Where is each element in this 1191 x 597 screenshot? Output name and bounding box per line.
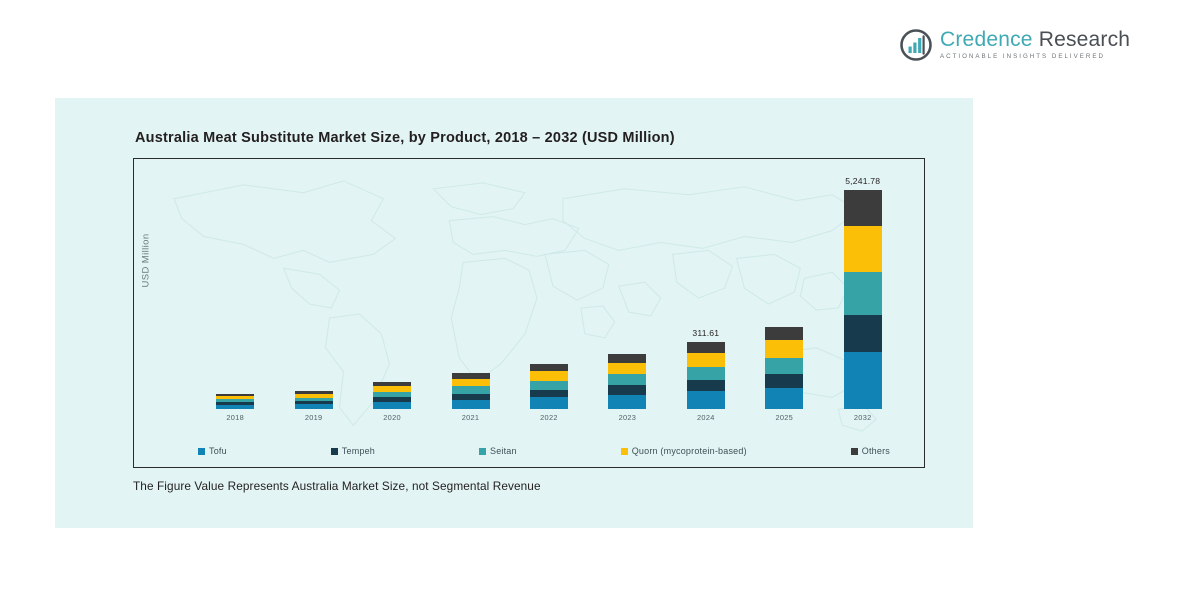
bar-segment-seitan[interactable] xyxy=(452,386,490,393)
legend-swatch-icon xyxy=(479,448,486,455)
bar-segment-seitan[interactable] xyxy=(530,381,568,390)
bar-column[interactable] xyxy=(196,177,274,409)
x-tick-2023: 2023 xyxy=(588,413,666,427)
legend-item-seitan[interactable]: Seitan xyxy=(479,446,517,456)
stacked-bar[interactable] xyxy=(687,342,725,409)
stacked-bar[interactable] xyxy=(765,327,803,409)
stacked-bar[interactable] xyxy=(373,382,411,409)
legend-label: Others xyxy=(862,446,890,456)
stacked-bar[interactable] xyxy=(452,373,490,409)
bar-segment-tofu[interactable] xyxy=(216,405,254,409)
legend-swatch-icon xyxy=(331,448,338,455)
x-tick-2019: 2019 xyxy=(274,413,352,427)
bar-segment-seitan[interactable] xyxy=(687,367,725,380)
bar-chart-circle-icon xyxy=(899,28,933,62)
bar-segment-tofu[interactable] xyxy=(765,388,803,409)
plot-frame: USD Million 311.615,241.78 2018201920202… xyxy=(133,158,925,468)
brand-tagline: Actionable Insights Delivered xyxy=(940,54,1130,60)
bar-segment-tempeh[interactable] xyxy=(530,390,568,397)
legend-label: Tempeh xyxy=(342,446,375,456)
bar-segment-tofu[interactable] xyxy=(687,391,725,409)
bar-column[interactable] xyxy=(274,177,352,409)
bar-segment-quorn[interactable] xyxy=(687,353,725,367)
bar-column[interactable]: 311.61 xyxy=(667,177,745,409)
bar-segment-quorn[interactable] xyxy=(608,363,646,375)
chart-legend: TofuTempehSeitanQuorn (mycoprotein-based… xyxy=(186,443,902,459)
bar-segment-tofu[interactable] xyxy=(452,400,490,409)
bar-segment-tempeh[interactable] xyxy=(765,374,803,388)
bar-column[interactable] xyxy=(431,177,509,409)
legend-item-quorn[interactable]: Quorn (mycoprotein-based) xyxy=(621,446,747,456)
bar-segment-tempeh[interactable] xyxy=(844,315,882,351)
legend-label: Quorn (mycoprotein-based) xyxy=(632,446,747,456)
figure-footnote: The Figure Value Represents Australia Ma… xyxy=(133,479,541,493)
x-tick-2022: 2022 xyxy=(510,413,588,427)
bar-value-label: 311.61 xyxy=(692,328,719,338)
bar-segment-others[interactable] xyxy=(765,327,803,340)
legend-swatch-icon xyxy=(198,448,205,455)
bar-segment-tofu[interactable] xyxy=(844,352,882,409)
bar-segment-quorn[interactable] xyxy=(530,371,568,380)
legend-swatch-icon xyxy=(851,448,858,455)
bar-segment-others[interactable] xyxy=(844,190,882,226)
brand-name-secondary: Research xyxy=(1039,28,1130,51)
chart-title: Australia Meat Substitute Market Size, b… xyxy=(135,130,925,146)
legend-item-tofu[interactable]: Tofu xyxy=(198,446,227,456)
x-tick-2024: 2024 xyxy=(667,413,745,427)
bar-segment-quorn[interactable] xyxy=(765,340,803,357)
bar-series-container: 311.615,241.78 xyxy=(196,177,902,409)
bar-segment-seitan[interactable] xyxy=(765,358,803,374)
stacked-bar[interactable] xyxy=(530,364,568,409)
bar-segment-tofu[interactable] xyxy=(373,402,411,409)
x-tick-2025: 2025 xyxy=(745,413,823,427)
bar-segment-tofu[interactable] xyxy=(530,397,568,409)
x-tick-2020: 2020 xyxy=(353,413,431,427)
legend-swatch-icon xyxy=(621,448,628,455)
bar-value-label: 5,241.78 xyxy=(845,176,880,186)
stacked-bar[interactable] xyxy=(216,394,254,409)
bar-segment-others[interactable] xyxy=(608,354,646,363)
bar-segment-others[interactable] xyxy=(687,342,725,353)
bar-segment-tofu[interactable] xyxy=(608,395,646,410)
brand-logo: Credence Research Actionable Insights De… xyxy=(899,28,1130,62)
stacked-bar[interactable] xyxy=(295,391,333,409)
plot-area: 311.615,241.78 xyxy=(196,177,902,409)
bar-segment-seitan[interactable] xyxy=(844,272,882,316)
legend-item-others[interactable]: Others xyxy=(851,446,890,456)
legend-label: Seitan xyxy=(490,446,517,456)
bar-segment-tofu[interactable] xyxy=(295,404,333,409)
stacked-bar[interactable] xyxy=(608,354,646,409)
x-tick-2021: 2021 xyxy=(431,413,509,427)
x-tick-2032: 2032 xyxy=(824,413,902,427)
brand-wordmark: Credence Research Actionable Insights De… xyxy=(940,29,1130,60)
x-tick-2018: 2018 xyxy=(196,413,274,427)
bar-segment-tempeh[interactable] xyxy=(687,380,725,391)
stacked-bar[interactable] xyxy=(844,190,882,409)
x-axis-tick-labels: 201820192020202120222023202420252032 xyxy=(196,413,902,427)
legend-item-tempeh[interactable]: Tempeh xyxy=(331,446,375,456)
brand-name-primary: Credence xyxy=(940,28,1033,51)
bar-column[interactable] xyxy=(588,177,666,409)
bar-segment-quorn[interactable] xyxy=(452,379,490,387)
bar-column[interactable]: 5,241.78 xyxy=(824,177,902,409)
bar-column[interactable] xyxy=(745,177,823,409)
bar-column[interactable] xyxy=(510,177,588,409)
bar-column[interactable] xyxy=(353,177,431,409)
legend-label: Tofu xyxy=(209,446,227,456)
bar-segment-others[interactable] xyxy=(530,364,568,371)
bar-segment-quorn[interactable] xyxy=(844,226,882,272)
y-axis-label: USD Million xyxy=(141,233,152,287)
bar-segment-tempeh[interactable] xyxy=(608,385,646,394)
bar-segment-seitan[interactable] xyxy=(608,374,646,385)
